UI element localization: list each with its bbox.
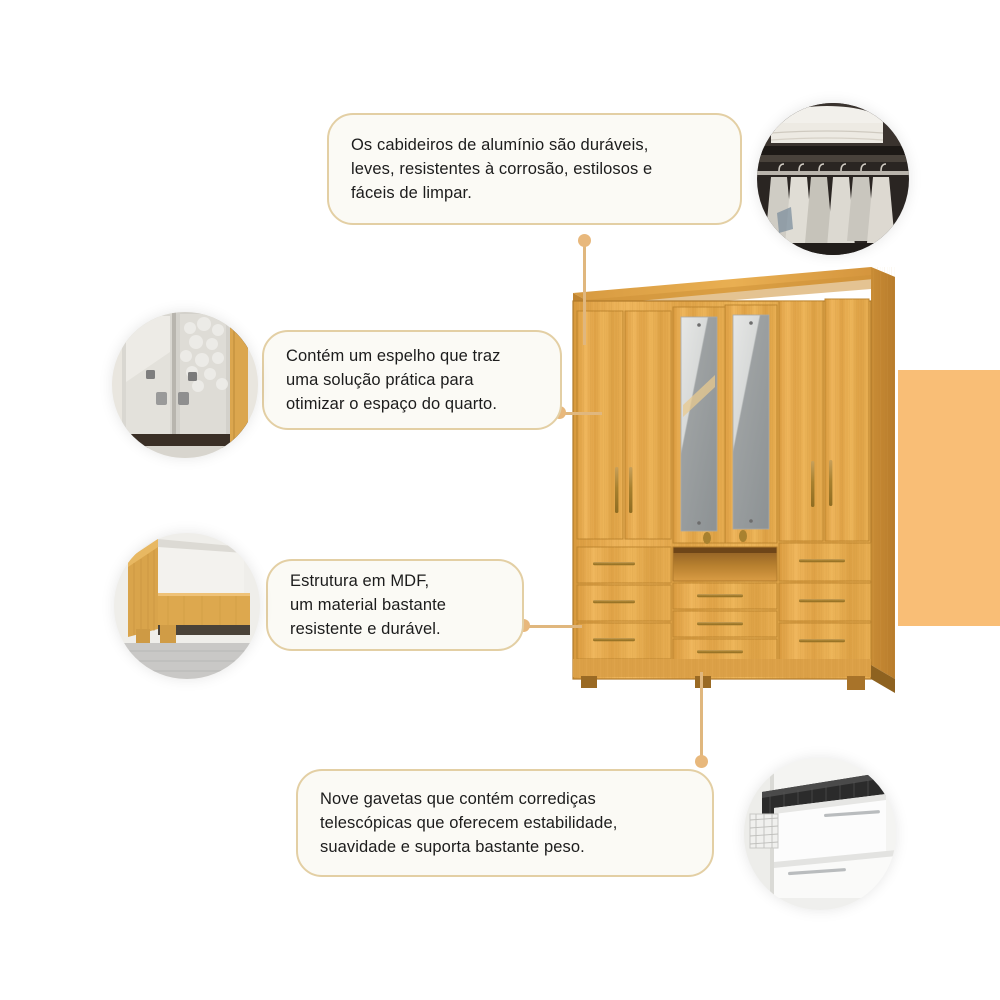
connector-dot-hangers <box>578 234 591 247</box>
callout-mirror-text: Contém um espelho que traz uma solução p… <box>286 344 500 417</box>
callout-drawers-text: Nove gavetas que contém corrediças teles… <box>320 787 617 860</box>
callout-mdf-text: Estrutura em MDF, um material bastante r… <box>290 569 446 642</box>
callout-drawers: Nove gavetas que contém corrediças teles… <box>296 769 714 877</box>
connector-line-mirror <box>560 412 602 415</box>
connector-dot-drawers <box>695 755 708 768</box>
mdf-base-photo <box>114 533 260 679</box>
mirror-doors-photo <box>112 312 258 458</box>
callout-mdf: Estrutura em MDF, um material bastante r… <box>266 559 524 651</box>
infographic-canvas: Os cabideiros de alumínio são duráveis, … <box>0 0 1000 1000</box>
connector-line-drawers <box>700 672 703 760</box>
callout-hangers-text: Os cabideiros de alumínio são duráveis, … <box>351 133 652 206</box>
closet-hangers-photo <box>757 103 909 255</box>
wardrobe-product-image <box>555 255 915 700</box>
callout-mirror: Contém um espelho que traz uma solução p… <box>262 330 562 430</box>
connector-line-hangers <box>583 240 586 345</box>
connector-line-mdf <box>524 625 582 628</box>
drawer-slides-photo <box>744 758 896 910</box>
callout-hangers: Os cabideiros de alumínio são duráveis, … <box>327 113 742 225</box>
